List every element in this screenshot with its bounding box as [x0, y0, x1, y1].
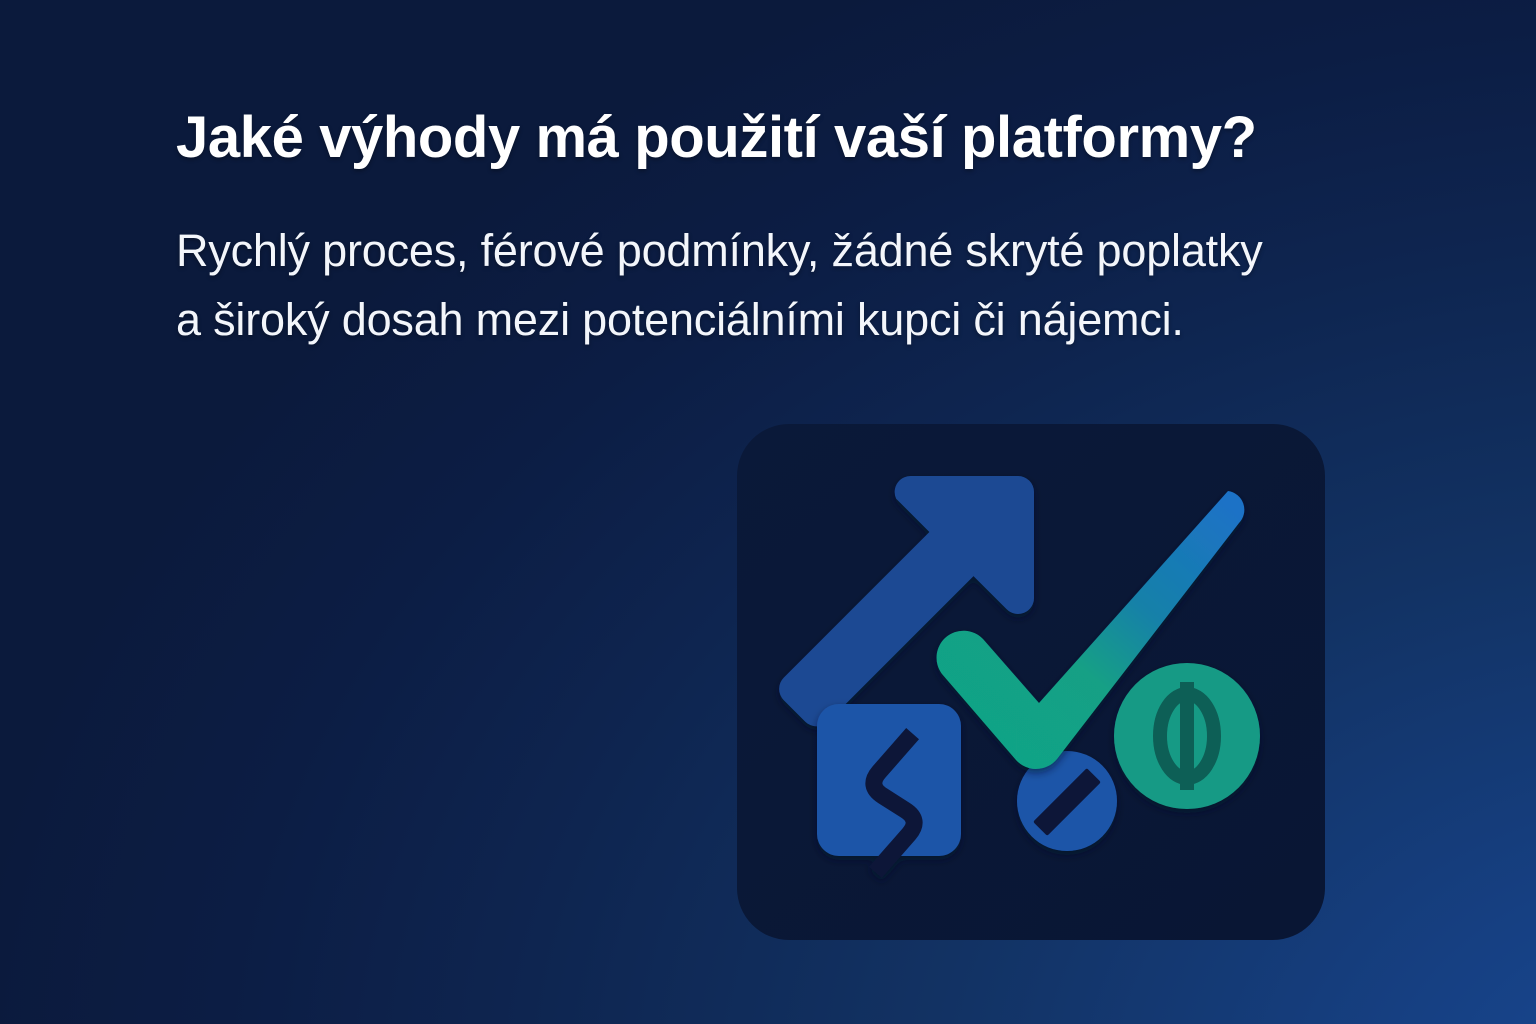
body-copy: Rychlý proces, férové podmínky, žádné sk…: [176, 172, 1436, 354]
contract-square-icon: [817, 704, 961, 866]
page-title: Jaké výhody má použití vaší platformy?: [176, 104, 1436, 172]
body-copy-line-1: Rychlý proces, férové podmínky, žádné sk…: [176, 216, 1436, 285]
platform-benefits-illustration: [737, 424, 1325, 940]
slide-canvas: Jaké výhody má použití vaší platformy? R…: [0, 0, 1536, 1024]
text-block: Jaké výhody má použití vaší platformy? R…: [176, 104, 1436, 354]
coin-icon: [1114, 663, 1260, 809]
body-copy-line-2: a široký dosah mezi potenciálními kupci …: [176, 285, 1436, 354]
